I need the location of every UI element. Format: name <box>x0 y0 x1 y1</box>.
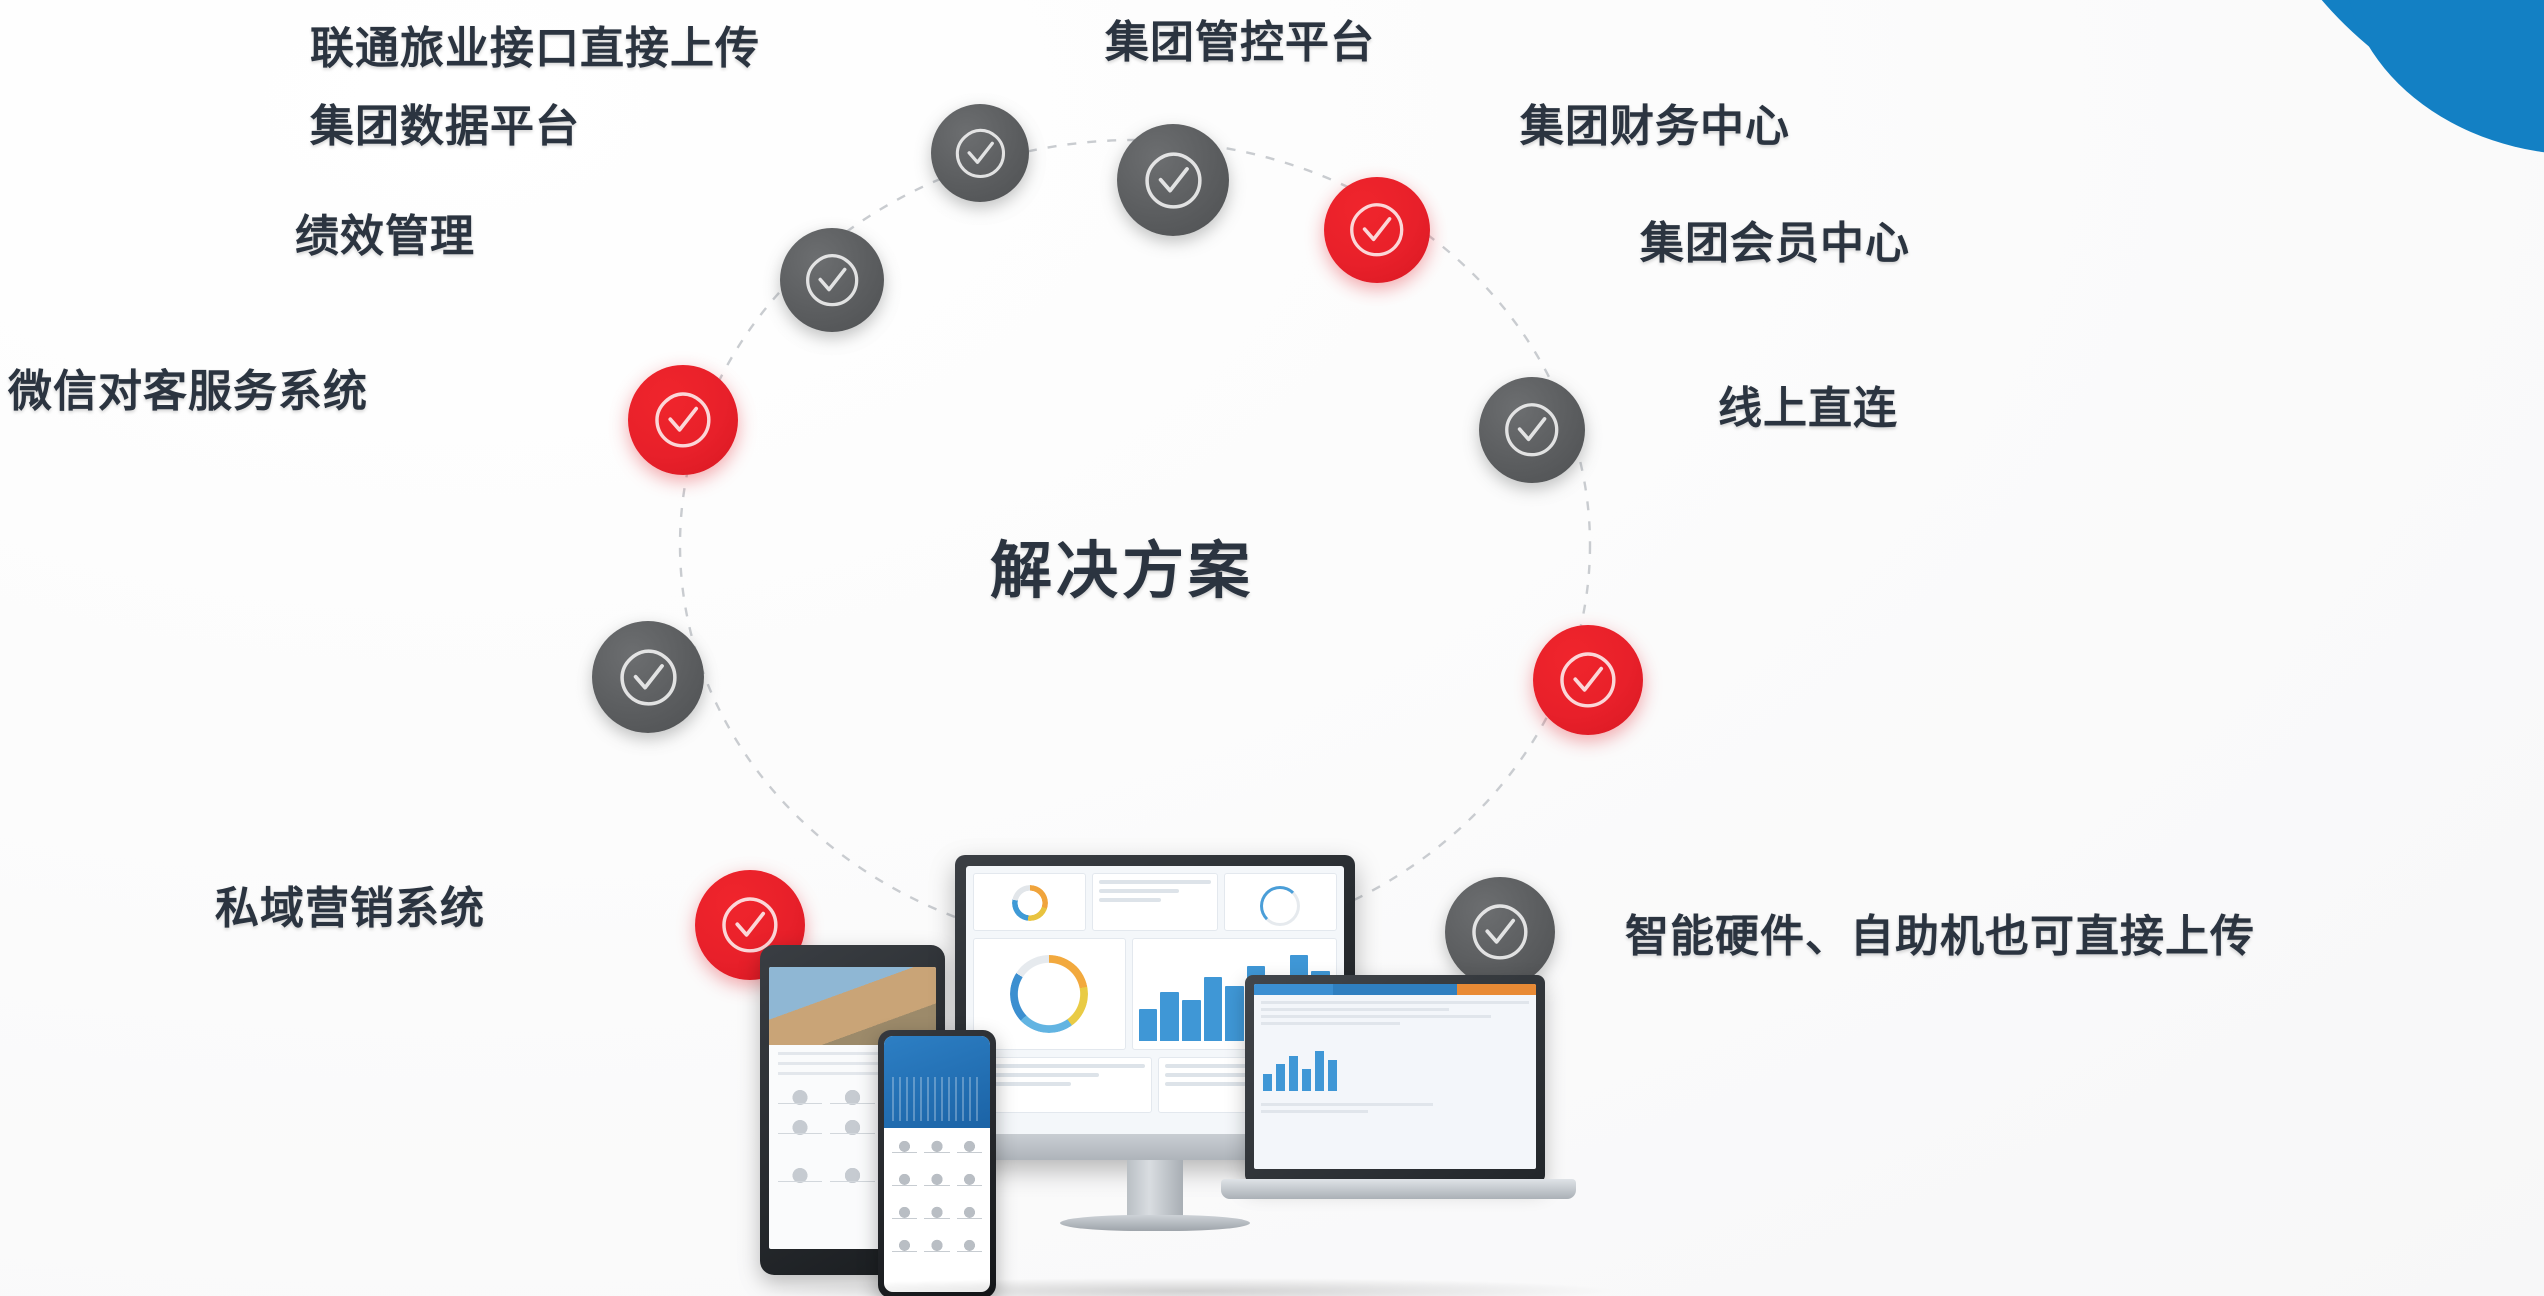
ring-node-5-red[interactable] <box>628 365 738 475</box>
check-badge-icon <box>1556 648 1620 712</box>
check-badge-icon <box>616 645 681 710</box>
check-badge-icon <box>651 388 715 452</box>
bar <box>1182 1000 1201 1041</box>
bar <box>1225 986 1244 1041</box>
bar <box>1139 1009 1158 1041</box>
laptop <box>1245 975 1565 1235</box>
kpi-card-gauge <box>1224 873 1337 931</box>
laptop-bar-chart <box>1254 1035 1536 1097</box>
node-label-7: 微信对客服务系统 <box>8 355 368 419</box>
bar <box>1315 1051 1324 1091</box>
node-label-4: 集团财务中心 <box>1520 90 1790 154</box>
node-label-9: 私域营销系统 <box>215 872 485 936</box>
bar <box>1302 1069 1311 1091</box>
node-label-6: 集团会员中心 <box>1640 207 1910 271</box>
node-label-3: 集团数据平台 <box>310 90 580 154</box>
phone-icon-grid <box>884 1128 990 1271</box>
bar <box>1289 1056 1298 1091</box>
device-mockup-group <box>760 855 1620 1296</box>
check-badge-icon <box>802 250 862 310</box>
kpi-card-donut <box>973 873 1086 931</box>
ring-node-8-red[interactable] <box>1533 625 1643 735</box>
kpi-card-lines <box>1092 873 1217 931</box>
ring-node-7-gray[interactable] <box>592 621 704 733</box>
node-label-2: 集团管控平台 <box>1105 6 1375 70</box>
ring-node-4-red[interactable] <box>1324 177 1430 283</box>
bar <box>1263 1074 1272 1091</box>
node-label-8: 线上直连 <box>1718 372 1898 436</box>
bar <box>1160 992 1179 1041</box>
laptop-toolbar <box>1254 984 1536 995</box>
node-label-1: 联通旅业接口直接上传 <box>310 12 760 76</box>
ring-node-6-gray[interactable] <box>1479 377 1585 483</box>
ring-node-3-gray[interactable] <box>780 228 884 332</box>
check-badge-icon <box>1501 399 1562 460</box>
check-badge-icon <box>952 125 1009 182</box>
node-label-10: 智能硬件、自助机也可直接上传 <box>1625 900 2255 964</box>
smartphone <box>878 1030 996 1296</box>
ring-node-1-gray[interactable] <box>931 104 1029 202</box>
bar <box>1276 1064 1285 1091</box>
page-title: 解决方案 <box>990 520 1254 610</box>
bar <box>1204 977 1223 1041</box>
bar <box>1328 1060 1337 1091</box>
ring-node-2-gray[interactable] <box>1117 124 1229 236</box>
phone-header-chart <box>884 1036 990 1128</box>
node-label-5: 绩效管理 <box>295 200 475 264</box>
check-badge-icon <box>1141 148 1206 213</box>
device-shadow <box>770 1278 1610 1296</box>
slide-canvas: 解决方案 联通旅业接口直接上传集团管控平台集团数据平台集团财务中心绩效管理集团会… <box>0 0 2544 1296</box>
check-badge-icon <box>1346 199 1407 260</box>
